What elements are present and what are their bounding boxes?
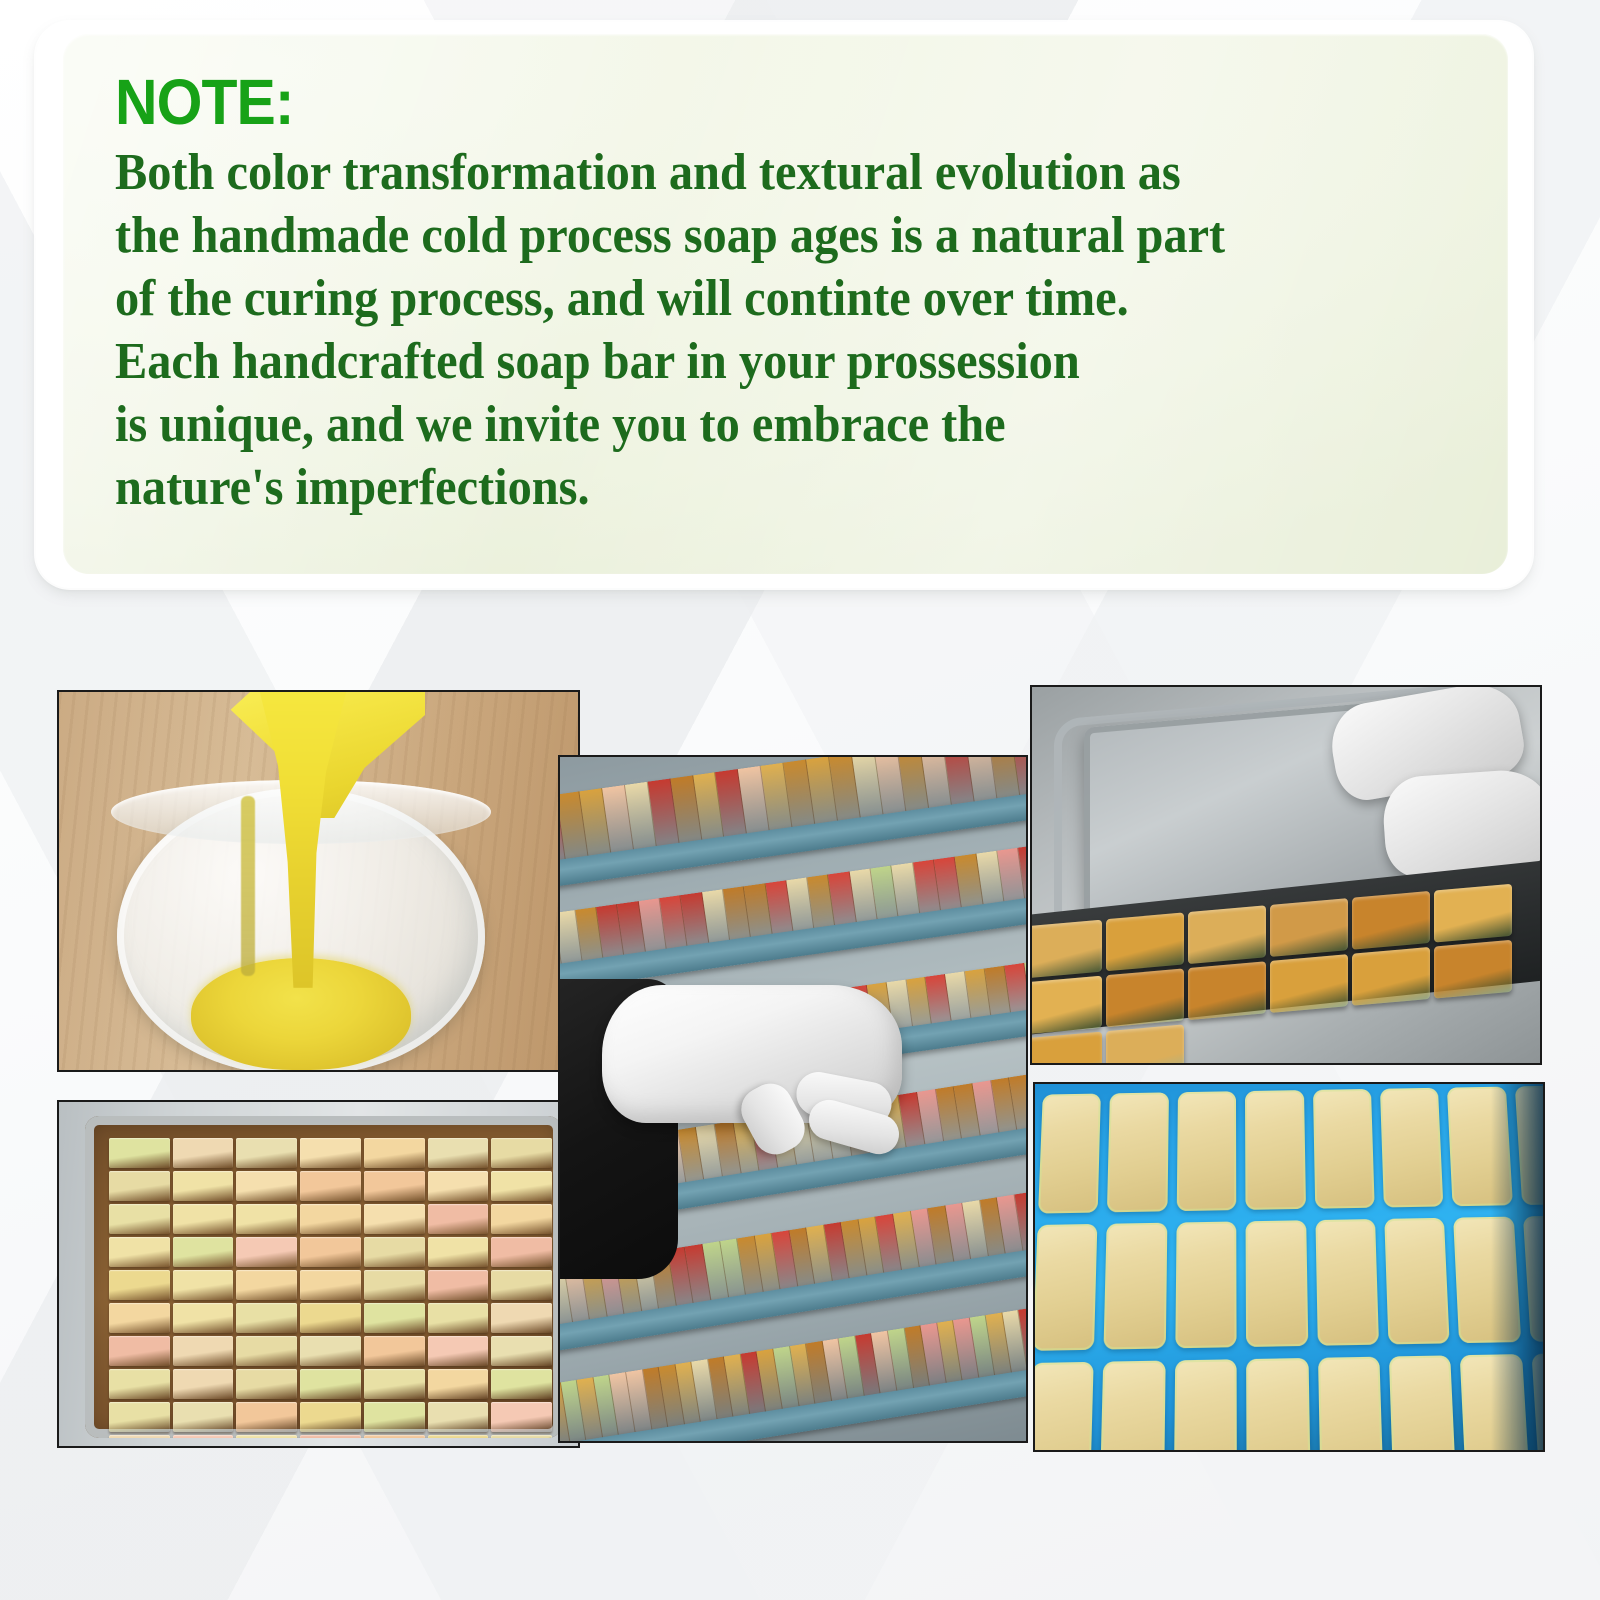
soap-bar [364,1171,425,1201]
photo-oil-pour [57,690,580,1072]
tray-interior [85,1116,562,1438]
amber-soap-bar [1030,1032,1102,1065]
soap-bar [109,1237,170,1267]
amber-soap-bar [1106,912,1184,971]
soap-bar [428,1402,489,1432]
note-heading: NOTE: [115,70,1360,134]
mold-shadow-edge [1491,1084,1543,1450]
mold-cavity [1100,1361,1165,1452]
soap-bar [173,1435,234,1438]
soap-bar [173,1138,234,1168]
soap-bar [300,1204,361,1234]
soap-bar [236,1204,297,1234]
mold-cavity [1312,1089,1374,1209]
amber-soap-bar [1270,954,1348,1013]
soap-bar [173,1270,234,1300]
soap-bar [173,1303,234,1333]
mold-cavity [1315,1219,1379,1346]
soap-bar [491,1138,552,1168]
note-card-surface: NOTE: Both color transformation and text… [63,34,1508,574]
photo-tray-bars [57,1100,580,1448]
soap-bar [428,1237,489,1267]
soap-bar [300,1303,361,1333]
soap-bar [491,1204,552,1234]
soap-bar [236,1171,297,1201]
amber-soap-bar [1106,1024,1184,1065]
soap-bar [491,1171,552,1201]
mold-cavity [1246,1220,1308,1347]
soap-bar [364,1402,425,1432]
soap-bar [428,1336,489,1366]
soap-bar [173,1336,234,1366]
photo-silicone-mold [1033,1082,1545,1452]
soap-bar [491,1435,552,1438]
amber-soap-bar [1434,884,1512,943]
mold-cavity [1384,1218,1450,1345]
soap-bar [300,1237,361,1267]
amber-soap-bar [1030,920,1102,979]
soap-bar [364,1369,425,1399]
soap-bar [491,1237,552,1267]
soap-bar [364,1435,425,1438]
amber-soap-bar [1188,905,1266,964]
amber-soap-bar [1106,968,1184,1027]
soap-bar [109,1336,170,1366]
gloved-hand-lower [1381,767,1542,878]
amber-soap-bars [1030,927,1542,1065]
amber-soap-bar [1352,891,1430,950]
photo-mold-steel [1030,685,1542,1065]
page-canvas: NOTE: Both color transformation and text… [0,0,1600,1600]
soap-bar [109,1171,170,1201]
amber-soap-bar [1188,961,1266,1020]
amber-soap-bar [1030,976,1102,1035]
soap-bar [173,1204,234,1234]
mold-cavity [1318,1357,1384,1452]
soap-bar [491,1336,552,1366]
soap-bar [300,1435,361,1438]
mold-cavity [1245,1090,1305,1210]
soap-bar [491,1270,552,1300]
soap-bar [491,1369,552,1399]
amber-soap-bar [1270,898,1348,957]
soap-bar [364,1237,425,1267]
amber-soap-bar [1352,947,1430,1006]
photo-curing-rack [558,755,1028,1443]
amber-soap-bar [1434,940,1512,999]
note-paragraph: Both color transformation and textural e… [115,142,1373,519]
soap-bar [236,1303,297,1333]
note-card: NOTE: Both color transformation and text… [36,22,1532,588]
soap-bar [236,1270,297,1300]
mold-cavity [1107,1092,1168,1212]
soap-bar [364,1138,425,1168]
soap-bar [364,1336,425,1366]
mold-cavity [1175,1221,1237,1348]
soap-bar [236,1138,297,1168]
mold-cavity [1380,1088,1444,1208]
soap-bar [300,1171,361,1201]
mold-cavity [1389,1355,1457,1452]
soap-bar [428,1435,489,1438]
soap-bar [236,1402,297,1432]
soap-bar [173,1171,234,1201]
soap-bar [236,1336,297,1366]
mold-cavity-grid [1033,1085,1545,1452]
soap-bar [236,1369,297,1399]
soap-bar [364,1270,425,1300]
soap-bar [300,1402,361,1432]
soap-bar [109,1270,170,1300]
soap-bar [109,1138,170,1168]
soap-bar [428,1270,489,1300]
soap-bar [364,1204,425,1234]
soap-bar [428,1369,489,1399]
soap-bar [109,1204,170,1234]
soap-bar [109,1369,170,1399]
mold-cavity [1246,1358,1310,1452]
soap-bar [173,1402,234,1432]
soap-bar [109,1303,170,1333]
soap-bar [236,1237,297,1267]
mold-cavity [1176,1091,1236,1211]
soap-bar [173,1237,234,1267]
soap-bar [109,1402,170,1432]
soap-bar [109,1435,170,1438]
soap-bar [428,1171,489,1201]
mold-cavity [1174,1359,1237,1452]
soap-bar [173,1369,234,1399]
soap-bar-grid [109,1138,552,1434]
soap-bar [428,1204,489,1234]
soap-bar [300,1270,361,1300]
soap-bar [428,1138,489,1168]
soap-bar [364,1303,425,1333]
mold-cavity [1033,1362,1094,1452]
soap-bar [300,1138,361,1168]
mold-cavity [1038,1094,1101,1214]
oil-thin-strand [241,796,255,976]
mold-cavity [1033,1224,1098,1351]
soap-bar [236,1435,297,1438]
soap-bar [428,1303,489,1333]
soap-bar [300,1336,361,1366]
soap-bar [300,1369,361,1399]
soap-bar [491,1303,552,1333]
note-card-content: NOTE: Both color transformation and text… [63,34,1508,519]
soap-bar [491,1402,552,1432]
mold-cavity [1104,1223,1167,1350]
